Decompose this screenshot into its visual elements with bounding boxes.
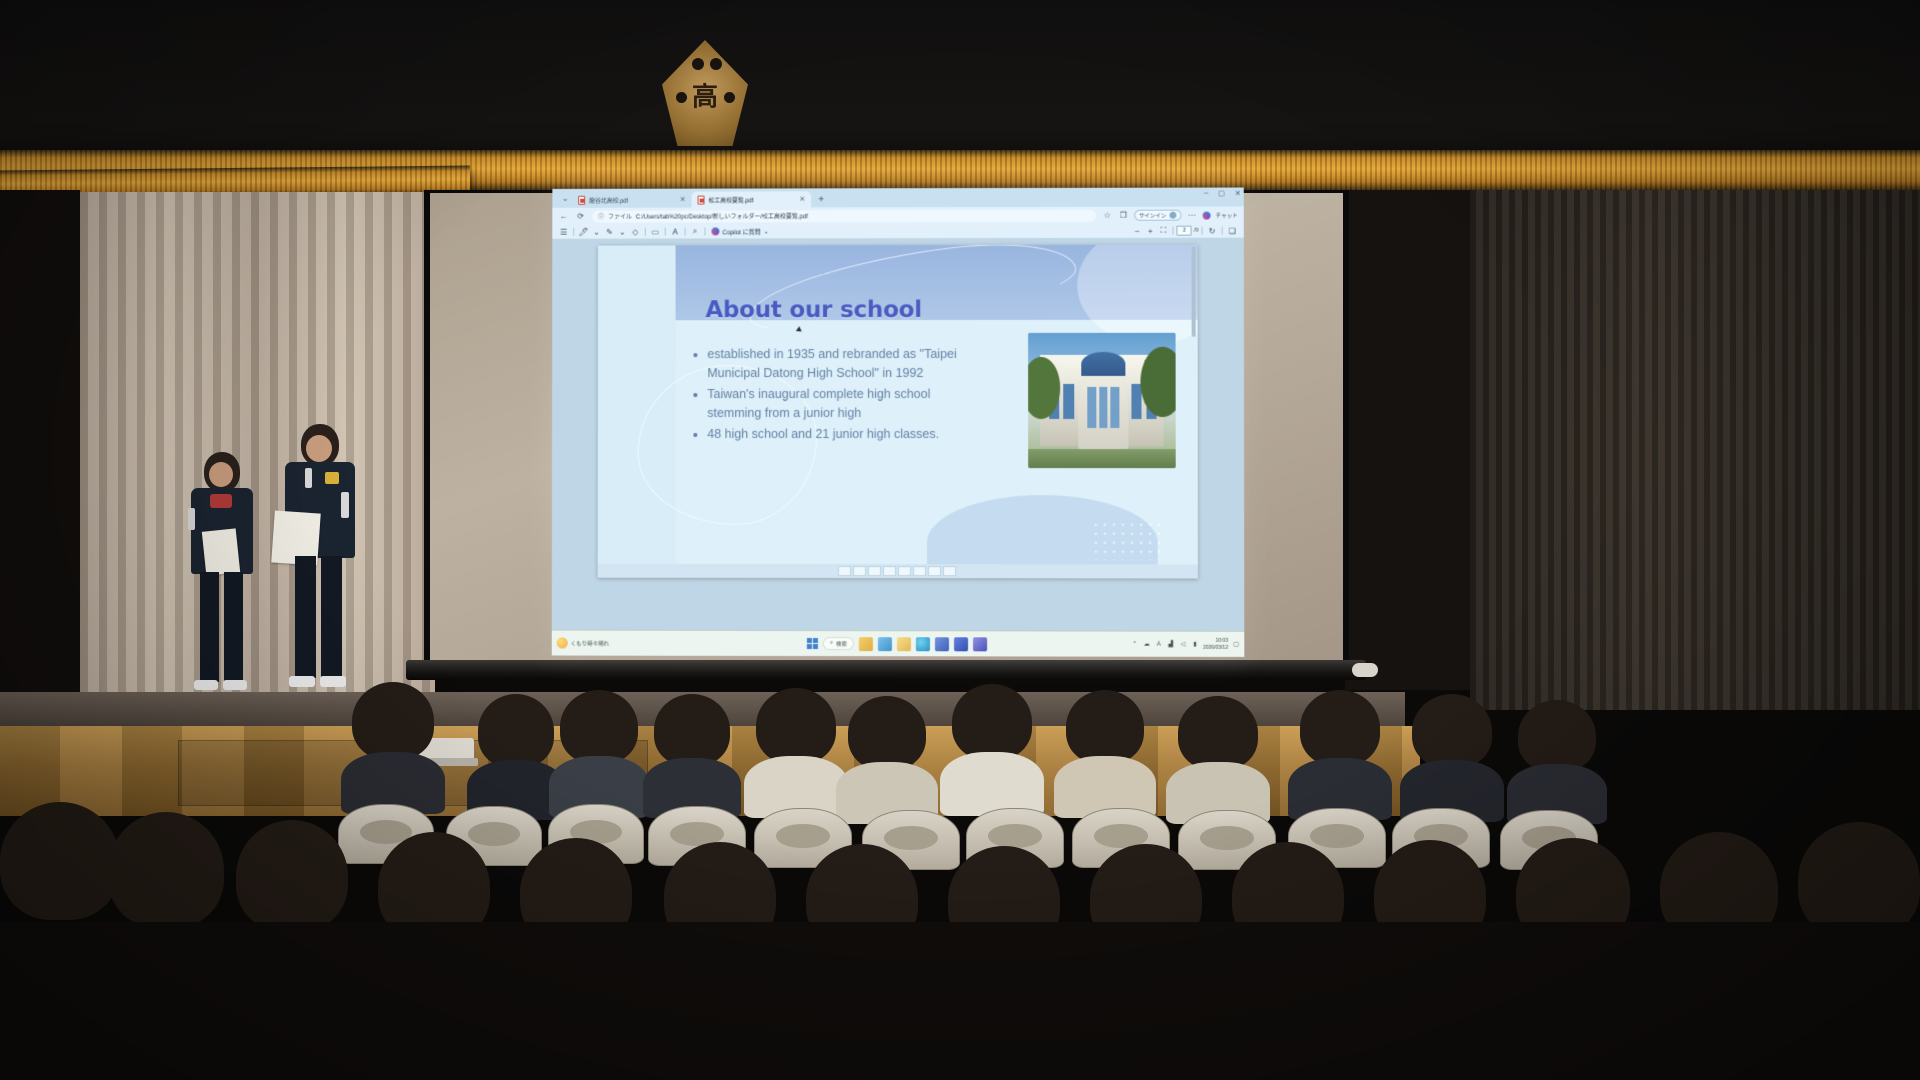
copilot-ask-button[interactable]: Copilot に質問 ⌄ <box>708 227 771 236</box>
weather-label: くもり時々晴れ <box>571 639 609 647</box>
thumbnail-item[interactable] <box>928 566 941 576</box>
chair <box>862 810 960 870</box>
read-aloud-icon[interactable]: ▭ <box>649 225 662 238</box>
file-scheme-label: ファイル <box>608 212 632 221</box>
chair <box>754 808 852 868</box>
thumbnail-item[interactable] <box>838 566 851 576</box>
slide-bullet: Taiwan's inaugural complete high school … <box>707 385 985 423</box>
projector-base <box>408 758 478 766</box>
crest-label: 高 <box>692 77 718 114</box>
battery-icon[interactable]: ▮ <box>1191 640 1199 648</box>
close-icon[interactable]: ✕ <box>674 196 686 204</box>
browser-nav-bar: ← ⟳ ⓘ ファイル C:/Users/tab%20pc/Desktop/新しい… <box>552 207 1243 225</box>
file-explorer-icon[interactable] <box>859 637 873 651</box>
tab-list-chevron-icon[interactable]: ⌄ <box>558 189 572 208</box>
stage-wall-right <box>1345 190 1475 690</box>
toc-icon[interactable]: ☰ <box>557 225 570 238</box>
zoom-in-button[interactable]: + <box>1144 224 1157 237</box>
audience-person <box>1660 832 1778 1000</box>
draw-chevron-icon[interactable]: ⌄ <box>616 225 629 238</box>
school-building-photo <box>1028 333 1176 468</box>
signin-button[interactable]: サインイン <box>1134 210 1182 221</box>
browser-tab-2[interactable]: 松工高校要覧.pdf ✕ <box>692 191 812 207</box>
info-circle-icon: ⓘ <box>598 212 604 221</box>
address-bar[interactable]: ⓘ ファイル C:/Users/tab%20pc/Desktop/新しいフォルダ… <box>592 209 1096 222</box>
minimize-button[interactable]: – <box>1204 190 1208 198</box>
teams-icon[interactable] <box>973 637 987 651</box>
thumbnail-item[interactable] <box>898 566 911 576</box>
ellipsis-icon[interactable]: ⋯ <box>1187 210 1198 221</box>
copilot-label: Copilot に質問 <box>722 227 760 236</box>
network-icon[interactable]: ▟ <box>1167 640 1175 648</box>
browser-tab-1[interactable]: 龍谷北高校.pdf ✕ <box>572 192 691 208</box>
pdf-toolbar: ☰ 🖊 ⌄ ✎ ⌄ ◇ ▭ A ⌕ Copilot に質問 ⌄ <box>552 224 1243 240</box>
projector-device <box>412 738 474 760</box>
highlight-icon[interactable]: 🖊 <box>577 225 590 238</box>
chair <box>966 808 1064 868</box>
thumbnail-item[interactable] <box>913 566 926 576</box>
browser-tab-bar: ⌄ 龍谷北高校.pdf ✕ 松工高校要覧.pdf ✕ + – ▢ ✕ <box>552 188 1243 208</box>
audience-person <box>1232 842 1344 1006</box>
search-icon[interactable]: ⌕ <box>689 225 702 238</box>
folder-icon[interactable] <box>897 637 911 651</box>
audience-person <box>108 812 224 982</box>
fit-page-icon[interactable]: ⛶ <box>1157 224 1170 237</box>
audience-person <box>806 844 918 1008</box>
notification-icon[interactable]: ▢ <box>1232 640 1240 648</box>
search-input[interactable]: ⌕ 検索 <box>823 637 854 650</box>
copilot-icon[interactable] <box>1203 211 1211 219</box>
stage-panel <box>178 740 408 806</box>
audience-person <box>664 842 776 1006</box>
windows-taskbar: くもり時々晴れ ⌕ 検索 ⌃ <box>552 630 1245 657</box>
presenter-student-left <box>182 452 262 702</box>
draw-icon[interactable]: ✎ <box>603 225 616 238</box>
highlight-chevron-icon[interactable]: ⌄ <box>590 225 603 238</box>
audience-person <box>1798 822 1920 994</box>
search-icon: ⌕ <box>830 640 833 647</box>
signin-label: サインイン <box>1139 211 1167 219</box>
page-total-label: /9 <box>1194 228 1199 234</box>
audience-person <box>1518 700 1596 818</box>
chair <box>1072 808 1170 868</box>
avatar <box>1169 212 1176 219</box>
zoom-out-button[interactable]: – <box>1131 224 1144 237</box>
pdf-slide-page: About our school established in 1935 and… <box>598 245 1198 579</box>
decorative-dots <box>1091 520 1161 560</box>
pdf-icon <box>578 195 585 204</box>
audience-person <box>0 802 120 972</box>
close-window-button[interactable]: ✕ <box>1235 190 1241 198</box>
slide-title: About our school <box>705 297 922 323</box>
auditorium-scene: 高 ⌄ 龍谷北高校.pdf ✕ 松工高校要覧.pdf ✕ <box>0 0 1920 1080</box>
audience-person <box>948 846 1060 1010</box>
onedrive-icon[interactable]: ☁ <box>1143 640 1151 648</box>
nav-right-actions: ☆ ❐ サインイン ⋯ チャット <box>1102 210 1238 221</box>
windows-start-icon[interactable] <box>807 638 818 649</box>
chat-label: チャット <box>1216 211 1238 219</box>
arrow-left-icon[interactable]: ← <box>558 211 569 222</box>
slide-bullet: 48 high school and 21 junior high classe… <box>707 425 985 444</box>
taskbar-center: ⌕ 検索 <box>807 637 987 651</box>
audience-person <box>1412 694 1492 814</box>
volume-icon[interactable]: ◁ <box>1179 640 1187 648</box>
chair <box>1500 810 1598 870</box>
presenter-student-right <box>275 424 365 704</box>
school-crest: 高 <box>662 40 748 146</box>
photos-icon[interactable] <box>878 637 892 651</box>
rotate-icon[interactable]: ↻ <box>1206 224 1219 237</box>
audience-person <box>378 832 490 998</box>
ime-icon[interactable]: A <box>1155 640 1163 648</box>
thumbnail-item[interactable] <box>853 566 866 576</box>
thumbnail-item[interactable] <box>868 566 881 576</box>
weather-widget[interactable]: くもり時々晴れ <box>552 638 701 649</box>
collections-icon[interactable]: ❐ <box>1118 210 1129 221</box>
screen-roller-bar <box>406 660 1366 680</box>
system-tray: ⌃ ☁ A ▟ ◁ ▮ 10:03 2026/03/12 ▢ <box>1131 638 1241 651</box>
slide-bullet: established in 1935 and rebranded as "Ta… <box>707 345 985 383</box>
search-placeholder: 検索 <box>836 640 847 648</box>
edge-icon[interactable] <box>916 637 930 651</box>
clock-date: 2026/03/12 <box>1203 644 1228 650</box>
url-text: C:/Users/tab%20pc/Desktop/新しいフォルダー/松工高校要… <box>636 211 808 220</box>
erase-icon[interactable]: ◇ <box>629 225 642 238</box>
audience-person <box>236 820 348 988</box>
edge-browser: ⌄ 龍谷北高校.pdf ✕ 松工高校要覧.pdf ✕ + – ▢ ✕ <box>552 188 1245 657</box>
tab-title: 松工高校要覧.pdf <box>708 195 753 204</box>
thumbnail-item[interactable] <box>883 566 896 576</box>
maximize-button[interactable]: ▢ <box>1218 190 1225 198</box>
chevron-down-icon: ⌄ <box>764 228 769 235</box>
new-tab-button[interactable]: + <box>813 191 829 207</box>
close-icon[interactable]: ✕ <box>793 195 805 203</box>
chair <box>1288 808 1386 868</box>
taskbar-clock[interactable]: 10:03 2026/03/12 <box>1203 638 1228 651</box>
store-icon[interactable] <box>935 637 949 651</box>
window-controls: – ▢ ✕ <box>1204 190 1241 198</box>
thumbnail-item[interactable] <box>943 566 956 576</box>
hall-wall-right <box>1470 190 1920 710</box>
sun-cloud-icon <box>557 638 568 649</box>
pdf-thumbnail-strip[interactable] <box>598 564 1198 579</box>
audience-person <box>1374 840 1486 1006</box>
pdf-viewer[interactable]: About our school established in 1935 and… <box>552 239 1244 631</box>
tab-title: 龍谷北高校.pdf <box>589 195 628 204</box>
pdf-scrollbar[interactable] <box>1192 247 1196 337</box>
star-icon[interactable]: ☆ <box>1102 210 1113 221</box>
page-layout-icon[interactable]: ❏ <box>1226 224 1239 237</box>
audience-person <box>520 838 632 1004</box>
chevron-up-icon[interactable]: ⌃ <box>1131 640 1139 648</box>
audience-person <box>1516 838 1630 1004</box>
audience-person <box>1090 844 1202 1008</box>
stage-wall-left <box>0 190 80 710</box>
page-number-input[interactable]: 2 <box>1177 226 1192 236</box>
refresh-icon[interactable]: ⟳ <box>575 211 586 222</box>
projected-browser-window: ⌄ 龍谷北高校.pdf ✕ 松工高校要覧.pdf ✕ + – ▢ ✕ <box>552 188 1245 657</box>
slide-bullet-list: established in 1935 and rebranded as "Ta… <box>695 345 985 446</box>
text-size-icon[interactable]: A <box>669 225 682 238</box>
copilot-icon <box>711 227 719 235</box>
pdf-icon <box>698 195 705 204</box>
chair <box>1392 808 1490 868</box>
office-icon[interactable] <box>954 637 968 651</box>
chair <box>1178 810 1276 870</box>
